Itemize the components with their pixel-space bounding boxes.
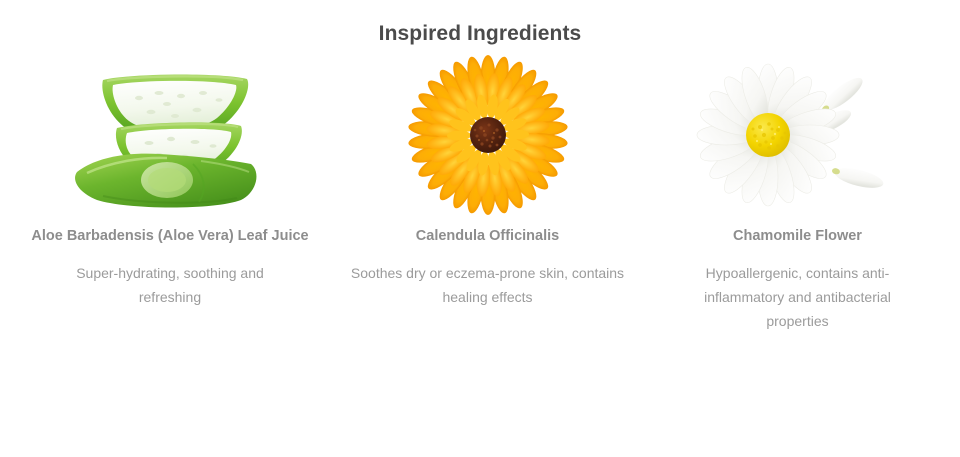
ingredient-card-chamomile: Chamomile Flower Hypoallergenic, contain… xyxy=(635,60,960,333)
ingredient-description: Hypoallergenic, contains anti-inflammato… xyxy=(678,261,918,333)
ingredients-row: Aloe Barbadensis (Aloe Vera) Leaf Juice … xyxy=(0,60,960,333)
ingredient-name: Aloe Barbadensis (Aloe Vera) Leaf Juice xyxy=(25,226,315,247)
chamomile-main-flower xyxy=(697,64,839,206)
aloe-slice-bottom xyxy=(75,154,256,208)
chamomile-center-disk xyxy=(746,113,790,157)
ingredient-card-aloe: Aloe Barbadensis (Aloe Vera) Leaf Juice … xyxy=(0,60,340,333)
chamomile-flower-illustration xyxy=(693,60,903,210)
ingredient-description: Super-hydrating, soothing and refreshing xyxy=(45,261,295,309)
page-title: Inspired Ingredients xyxy=(0,22,960,46)
ingredient-name: Chamomile Flower xyxy=(673,226,923,247)
aloe-vera-illustration xyxy=(55,60,285,210)
ingredient-name: Calendula Officinalis xyxy=(363,226,613,247)
aloe-vera-slices-image xyxy=(0,60,340,210)
calendula-flower-illustration xyxy=(413,60,563,210)
chamomile-flower-image xyxy=(635,60,960,210)
calendula-center-disk xyxy=(470,117,506,153)
calendula-flower-image xyxy=(340,60,635,210)
ingredient-description: Soothes dry or eczema-prone skin, contai… xyxy=(348,261,628,309)
ingredient-card-calendula: Calendula Officinalis Soothes dry or ecz… xyxy=(340,60,635,333)
